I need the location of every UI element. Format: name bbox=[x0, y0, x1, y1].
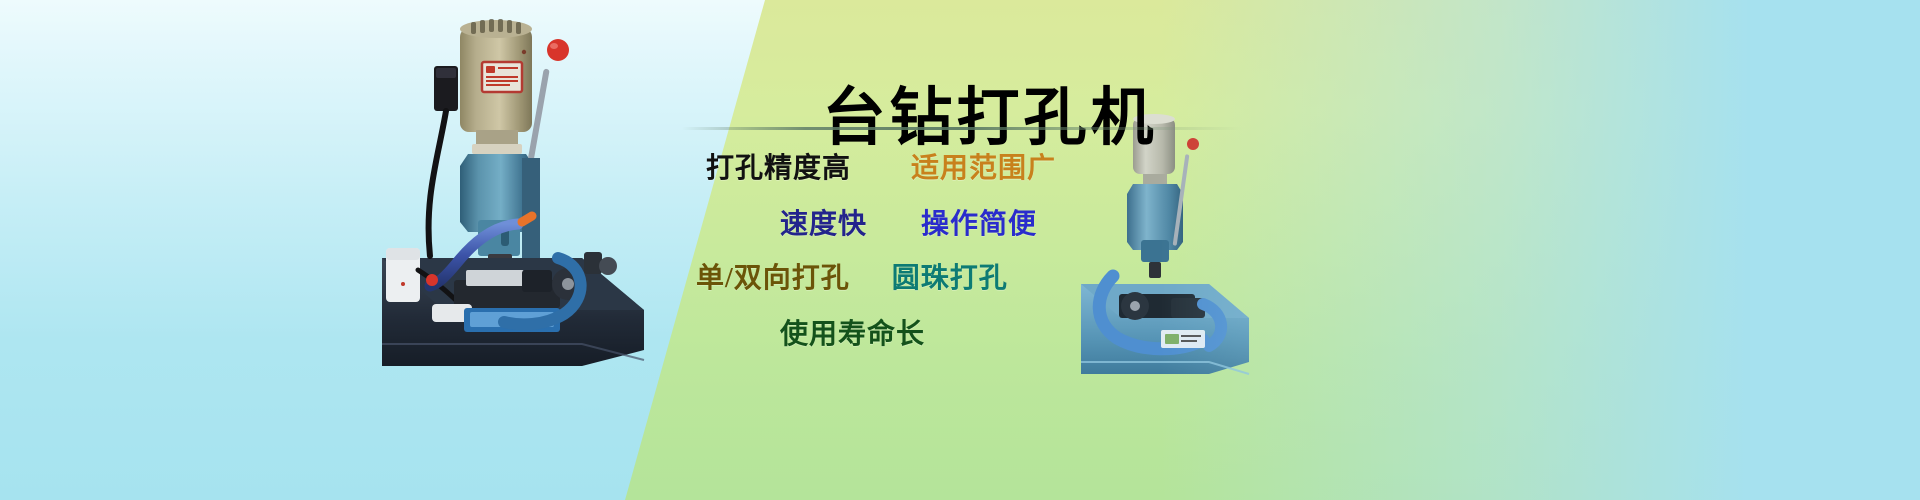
product-banner: 台钻打孔机 打孔精度高 适用范围广 速度快 操作简便 单/双向打孔 圆珠打孔 使… bbox=[0, 0, 1920, 500]
feature-item: 单/双向打孔 bbox=[696, 263, 850, 294]
feature-item: 适用范围广 bbox=[911, 153, 1056, 184]
feature-item: 速度快 bbox=[780, 209, 867, 240]
feature-item: 打孔精度高 bbox=[706, 153, 851, 184]
feature-row-1: 打孔精度高 适用范围广 bbox=[706, 146, 1056, 186]
feature-list: 打孔精度高 适用范围广 速度快 操作简便 单/双向打孔 圆珠打孔 使用寿命长 bbox=[660, 140, 1260, 370]
feature-item: 圆珠打孔 bbox=[892, 263, 1008, 294]
feature-item: 操作简便 bbox=[921, 209, 1037, 240]
panel-right-fade bbox=[1160, 0, 1920, 500]
feature-row-3: 单/双向打孔 圆珠打孔 bbox=[696, 256, 1008, 296]
left-machine-image bbox=[372, 8, 652, 366]
feature-item: 使用寿命长 bbox=[780, 319, 925, 350]
title-divider bbox=[682, 127, 1242, 130]
feature-row-4: 使用寿命长 bbox=[780, 312, 925, 352]
feature-row-2: 速度快 操作简便 bbox=[780, 202, 1037, 242]
